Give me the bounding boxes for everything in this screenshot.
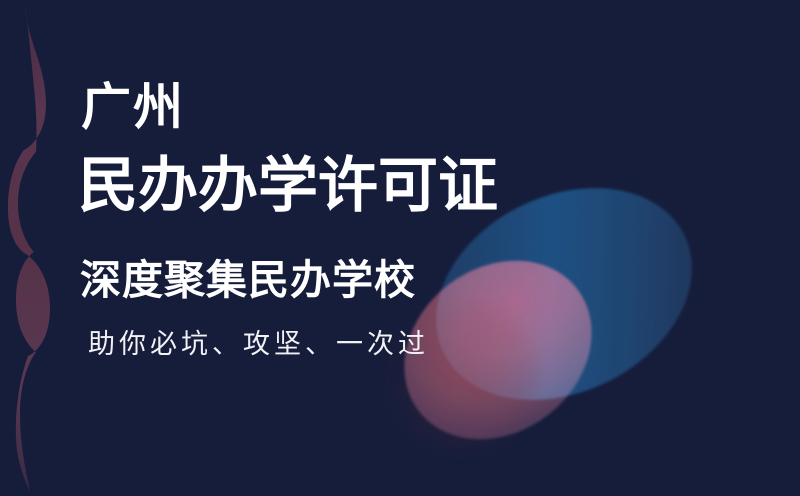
copy-block: 广州 民办办学许可证 深度聚集民办学校 助你必坑、攻坚、一次过 — [78, 82, 678, 358]
subtitle: 深度聚集民办学校 — [80, 260, 678, 301]
headline-line-1: 广州 — [81, 82, 678, 132]
tagline: 助你必坑、攻坚、一次过 — [88, 331, 678, 358]
promo-banner: 广州 民办办学许可证 深度聚集民办学校 助你必坑、攻坚、一次过 — [0, 0, 800, 496]
left-wave-ribbon-icon — [0, 0, 90, 496]
headline-line-2: 民办办学许可证 — [78, 156, 678, 216]
